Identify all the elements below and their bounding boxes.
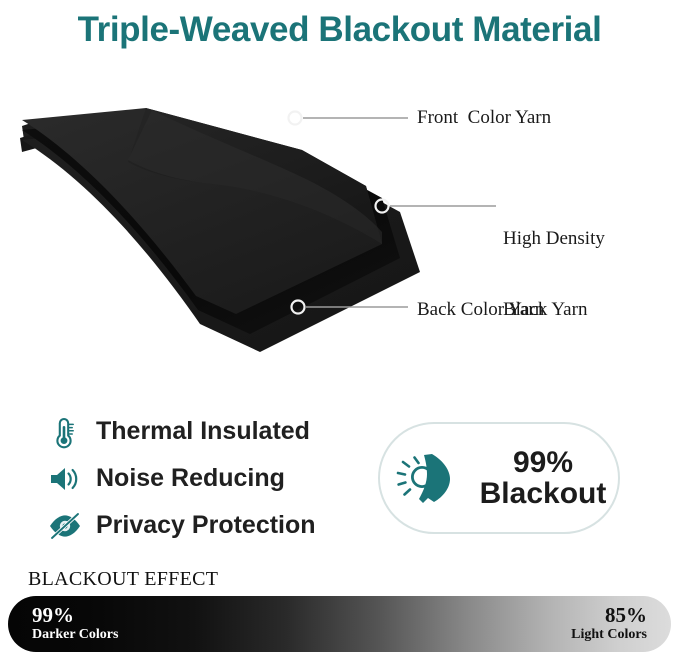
feature-list: Thermal Insulated Noise Reducing xyxy=(44,408,374,549)
blackout-badge-percent: 99% xyxy=(480,447,607,479)
feature-label-noise-reducing: Noise Reducing xyxy=(96,464,285,493)
gradient-right-stat: 85% Light Colors xyxy=(571,604,647,642)
feature-item-noise-reducing: Noise Reducing xyxy=(44,455,374,502)
gradient-left-percent: 99% xyxy=(32,604,118,627)
gradient-right-label: Light Colors xyxy=(571,627,647,642)
page-title-text: Triple-Weaved Blackout Material xyxy=(78,10,602,50)
blackout-badge-word: Blackout xyxy=(480,478,607,510)
feature-label-thermal-insulated: Thermal Insulated xyxy=(96,417,310,446)
gradient-left-label: Darker Colors xyxy=(32,627,118,642)
thermometer-icon xyxy=(44,412,86,452)
blackout-badge-text: 99% Blackout xyxy=(480,447,607,510)
blackout-effect-heading: BLACKOUT EFFECT xyxy=(28,568,218,591)
gradient-right-percent: 85% xyxy=(571,604,647,627)
page-title: Triple-Weaved Blackout Material xyxy=(0,0,679,60)
feature-label-privacy-protection: Privacy Protection xyxy=(96,511,316,540)
blackout-effect-section: BLACKOUT EFFECT 99% Darker Colors 85% Li… xyxy=(0,566,679,655)
blackout-badge: 99% Blackout xyxy=(378,422,620,534)
feature-item-privacy-protection: Privacy Protection xyxy=(44,502,374,549)
callout-label-high-density-line1: High Density xyxy=(503,227,605,251)
callout-label-back: Back Color Yarn xyxy=(417,298,544,322)
infographic-page: Triple-Weaved Blackout Material xyxy=(0,0,679,655)
feature-item-thermal-insulated: Thermal Insulated xyxy=(44,408,374,455)
blackout-gradient-bar: 99% Darker Colors 85% Light Colors xyxy=(8,596,671,652)
callout-label-front: Front Color Yarn xyxy=(417,106,551,130)
eye-off-icon xyxy=(44,506,86,546)
sun-blocked-icon xyxy=(392,446,466,510)
callout-dot-front xyxy=(289,112,302,125)
gradient-left-stat: 99% Darker Colors xyxy=(32,604,118,642)
speaker-icon xyxy=(44,459,86,499)
callout-label-high-density: High Density Black Yarn xyxy=(503,179,605,369)
